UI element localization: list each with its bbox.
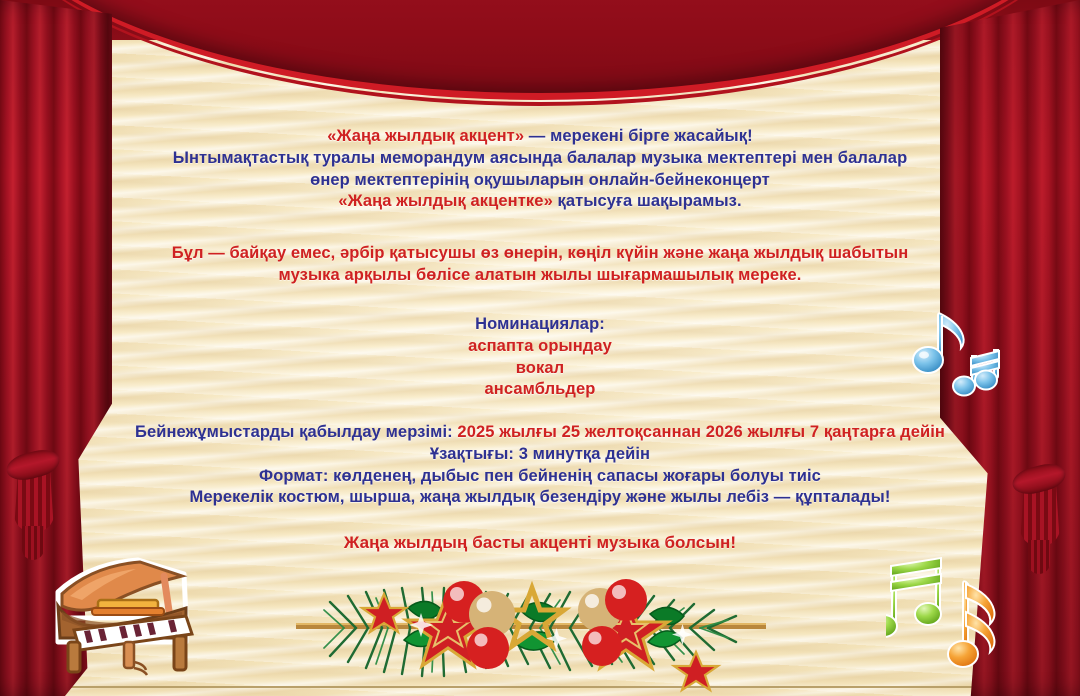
deadline-line: Бейнежұмыстарды қабылдау мерзімі: 2025 ж…: [36, 422, 1044, 444]
deadline-value: 2025 жылғы 25 желтоқсаннан 2026 жылғы 7 …: [457, 423, 945, 441]
garland-small-star: [674, 652, 718, 690]
poster-canvas: «Жаңа жылдық акцент» — мерекені бірге жа…: [0, 0, 1080, 696]
intro-block: «Жаңа жылдық акцент» — мерекені бірге жа…: [60, 126, 1020, 213]
intro-line-4-red: «Жаңа жылдық акцентке»: [338, 192, 552, 210]
blue-music-notes-icon: [902, 300, 1022, 404]
intro-line-1: «Жаңа жылдық акцент» — мерекені бірге жа…: [60, 126, 1020, 148]
intro-line-1-red: «Жаңа жылдық акцент»: [327, 127, 524, 145]
piano-leg-right: [174, 636, 186, 670]
intro-line-3: өнер мектептерінің оқушыларын онлайн-бей…: [60, 170, 1020, 192]
deadline-label: Бейнежұмыстарды қабылдау мерзімі:: [135, 423, 457, 441]
costume-line: Мерекелік костюм, шырша, жаңа жылдық без…: [36, 487, 1044, 509]
grand-piano-icon: [36, 546, 218, 680]
intro-line-4: «Жаңа жылдық акцентке» қатысуға шақырамы…: [60, 191, 1020, 213]
description-line-2: музыка арқылы бөлісе алатын жылы шығарма…: [56, 265, 1024, 287]
intro-line-2: Ынтымақтастық туралы меморандум аясында …: [60, 148, 1020, 170]
piano-leg-left: [68, 642, 80, 672]
intro-line-4-blue: қатысуға шақырамыз.: [553, 192, 742, 210]
description-block: Бұл — байқау емес, әрбір қатысушы өз өне…: [56, 243, 1024, 287]
format-line: Формат: көлденең, дыбыс пен бейненің сап…: [36, 466, 1044, 488]
intro-line-1-blue: — мерекені бірге жасайық!: [524, 127, 753, 145]
duration-line: Ұзақтығы: 3 минутқа дейін: [36, 444, 1044, 466]
orange-music-note-icon: [946, 572, 1024, 682]
piano-pedal-lyre: [124, 642, 134, 668]
description-line-1: Бұл — байқау емес, әрбір қатысушы өз өне…: [56, 243, 1024, 265]
christmas-garland-icon: [296, 566, 766, 696]
details-block: Бейнежұмыстарды қабылдау мерзімі: 2025 ж…: [36, 422, 1044, 509]
